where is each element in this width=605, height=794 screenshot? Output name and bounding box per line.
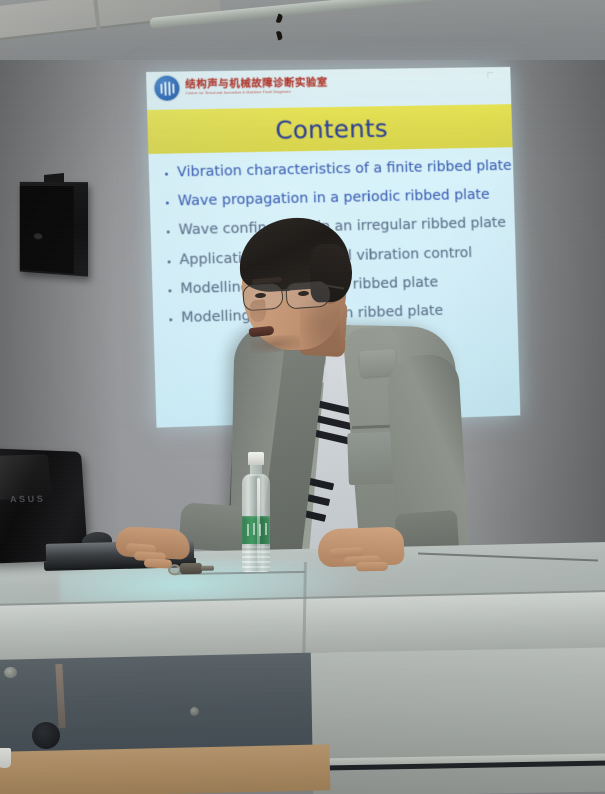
wood-floor: [0, 744, 330, 794]
desk-side-panel: [311, 647, 605, 794]
water-bottle[interactable]: [240, 452, 272, 574]
bottle-neck: [250, 464, 262, 476]
bottle-highlight: [257, 478, 260, 564]
bottle-label: [242, 516, 270, 544]
photo-scene: 结构声与机械故障诊断实验室 Centre for Structural Acou…: [0, 0, 605, 794]
eyeglasses-icon: [285, 280, 331, 309]
bottle-ribs: [242, 546, 270, 572]
key-tip: [201, 566, 214, 571]
finger: [356, 562, 388, 572]
floor-object: [0, 748, 11, 768]
desk-fastener: [4, 667, 17, 678]
laptop-brand-label: ASUS: [10, 494, 46, 505]
keyring[interactable]: [168, 562, 214, 575]
key-body: [180, 563, 202, 574]
bottle-cap[interactable]: [248, 452, 264, 465]
desk-fastener: [190, 707, 199, 716]
